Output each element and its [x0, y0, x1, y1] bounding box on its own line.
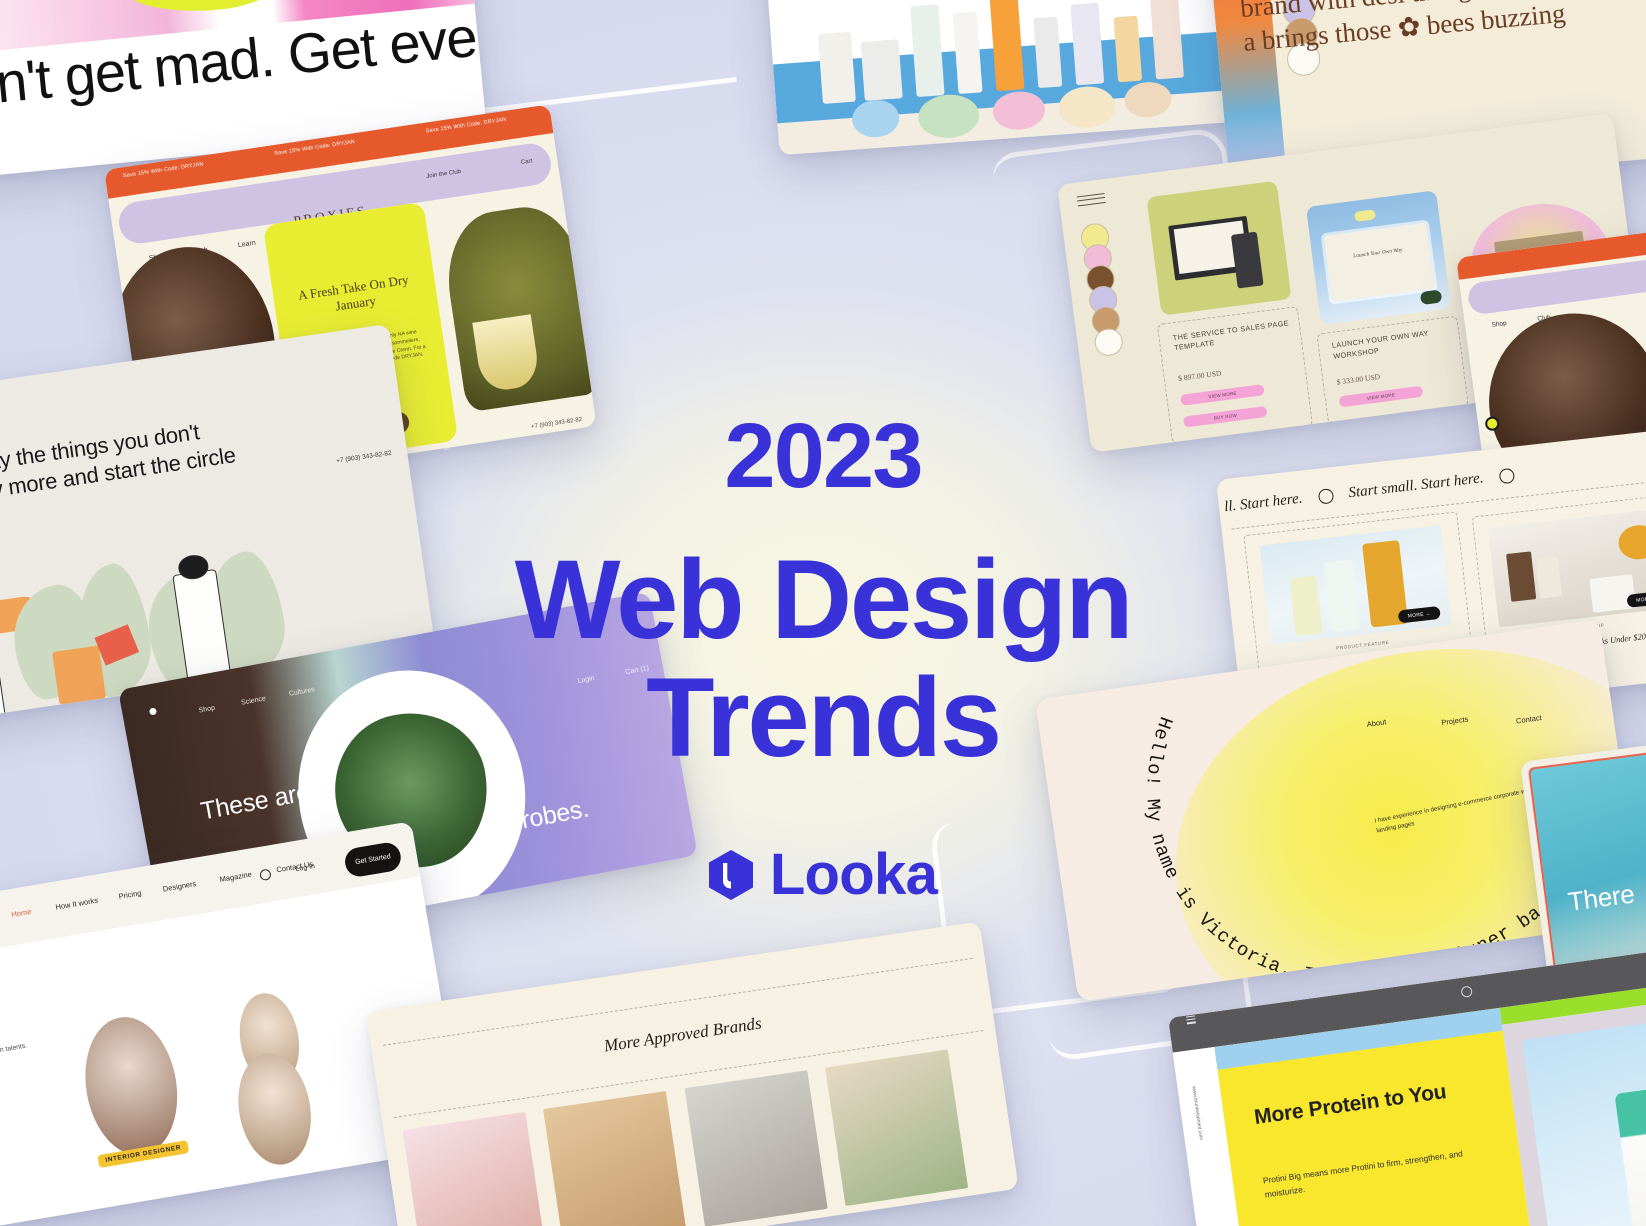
- template-thumb-2[interactable]: Launch Your Own Way: [1306, 190, 1452, 325]
- brand-photo-1[interactable]: [402, 1111, 545, 1226]
- yellow-blob-2: [116, 0, 303, 19]
- looka-wordmark: Looka: [770, 846, 937, 904]
- circle-headline: Give away the things you don't need any …: [0, 411, 261, 544]
- spiral-icon: [1317, 488, 1334, 505]
- product-small: [1033, 17, 1062, 88]
- victoria-arc-text: Hello! My name is Victoria. I'm UX/UI de…: [1035, 619, 1602, 1002]
- hamburger-icon[interactable]: [1076, 192, 1106, 209]
- looka-brand-lockup: Looka: [0, 846, 1646, 904]
- circle-phone[interactable]: +7 (903) 343-82-82: [336, 450, 392, 465]
- announcement-text-2: Save 15% With Code: DRYJAN: [274, 139, 355, 157]
- announcement-text-1: Save 15% With Code: DRYJAN: [123, 162, 204, 180]
- microbes-nav-science[interactable]: Science: [241, 695, 267, 706]
- marquee-right: Start small. Start here.: [1348, 470, 1485, 501]
- brand-photo-2[interactable]: [543, 1091, 686, 1226]
- proxies-promo-title: A Fresh Take On Dry January: [285, 270, 424, 320]
- proxies-nav-learn[interactable]: Learn: [237, 240, 256, 250]
- microbes-nav-shop[interactable]: Shop: [198, 705, 215, 715]
- interior-headline: for er?: [0, 964, 44, 1032]
- brand-photo-3[interactable]: [684, 1070, 827, 1226]
- menu-icon[interactable]: [1186, 1015, 1196, 1024]
- product-lav: [1070, 3, 1104, 85]
- product-beige: [1149, 0, 1183, 79]
- headline-year: 2023: [724, 410, 921, 502]
- microbes-nav-cart[interactable]: Cart (1): [625, 665, 650, 676]
- avatar-main: [76, 1010, 187, 1162]
- microbes-logo-dot: [149, 708, 157, 716]
- card-approved-brands[interactable]: More Approved Brands: [366, 921, 1019, 1226]
- product-tan: [1114, 16, 1142, 82]
- start-image-2: [1488, 507, 1646, 627]
- product-jar: [861, 39, 903, 101]
- illustration-person-left: [0, 628, 6, 722]
- avatar-3: [231, 1048, 319, 1170]
- protini-side-label: www.drunkelephant.com: [1191, 1085, 1204, 1140]
- illustration-box: [52, 646, 106, 705]
- announcement-text-3: Save 15% With Code: DRYJAN: [425, 117, 506, 135]
- headline-line2: Trends: [646, 662, 1000, 774]
- microbes-nav-login[interactable]: Login: [577, 675, 595, 685]
- protini-logo-icon: [1461, 986, 1473, 998]
- template-thumb-1[interactable]: [1146, 181, 1292, 316]
- proxies-phone: +7 (903) 343-82-82: [531, 417, 583, 430]
- microbes-text-left: These are: [198, 778, 312, 827]
- brand-photo-4[interactable]: [825, 1049, 968, 1206]
- product-tube-white: [953, 12, 982, 94]
- templates-color-swatches: [1079, 222, 1122, 357]
- proxies2-nav-shop[interactable]: Shop: [1491, 319, 1507, 328]
- spiral-icon-2: [1498, 468, 1515, 485]
- bees-body: We help you go from service provider ✿ t…: [1236, 0, 1646, 59]
- interior-body: gners are trained to give life to y budg…: [0, 1039, 34, 1085]
- looka-hexagon-logo-icon: [709, 850, 753, 900]
- start-image-1: [1260, 525, 1452, 645]
- product-bottle: [818, 32, 856, 104]
- marquee-left: ll. Start here.: [1223, 491, 1303, 516]
- product-tube-green: [910, 4, 945, 97]
- poster-canvas: on't get mad. Get eve Save 15% With Code…: [0, 0, 1646, 1226]
- microbes-nav-cultures[interactable]: Cultures: [288, 686, 315, 698]
